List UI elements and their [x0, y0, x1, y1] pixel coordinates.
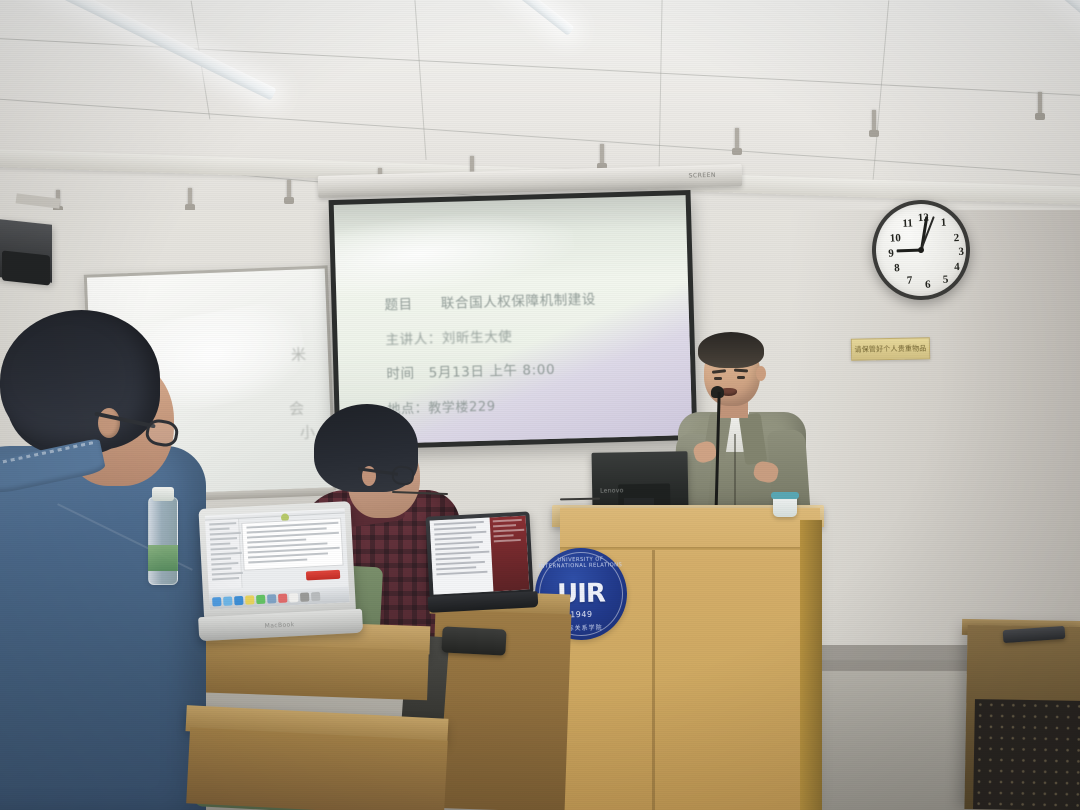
laptop-front-screen[interactable] — [205, 508, 350, 609]
desk-right-mesh-panel — [973, 699, 1080, 810]
cup-lid — [771, 492, 799, 499]
laptop-second-lid — [425, 511, 533, 598]
clock-numeral: 1 — [936, 217, 951, 229]
light-hanger — [600, 144, 604, 165]
water-bottle-label — [148, 545, 178, 571]
notes-icon[interactable] — [245, 595, 254, 604]
calendar-icon[interactable] — [289, 592, 298, 601]
classroom-photo: 12 1 2 3 4 5 6 7 8 9 10 11 请保管好个人贵重物品 米 … — [0, 0, 1080, 810]
screen-brand-label: SCREEN — [689, 172, 716, 180]
student-front-hair — [0, 310, 160, 450]
laptop-front-lid — [198, 501, 356, 619]
clock-center-pin — [918, 247, 924, 253]
paper-cup — [773, 495, 797, 517]
trash-icon[interactable] — [311, 591, 320, 600]
folder-icon[interactable] — [267, 594, 276, 603]
warning-sign-text: 请保管好个人贵重物品 — [854, 343, 926, 354]
chat-icon[interactable] — [256, 594, 265, 603]
monitor-brand-label: Lenovo — [600, 487, 624, 494]
laptop-document-window[interactable] — [241, 518, 343, 571]
screen-glare — [334, 204, 578, 301]
laptop-second-screen[interactable] — [430, 516, 530, 595]
laptop-front[interactable]: MacBook — [192, 501, 363, 649]
logo-arc-top-text: UNIVERSITY OF INTERNATIONAL RELATIONS — [534, 556, 626, 570]
mail-icon[interactable] — [234, 595, 243, 604]
slide-line-speaker: 主讲人：刘昕生大使 — [385, 326, 679, 348]
laptop-submit-button[interactable] — [306, 570, 340, 581]
podium-seam — [560, 547, 820, 550]
music-icon[interactable] — [278, 593, 287, 602]
speaker-eye — [737, 376, 745, 379]
laptop-second[interactable] — [425, 511, 538, 617]
clock-numeral: 11 — [900, 218, 915, 230]
clock-numeral: 3 — [954, 247, 969, 259]
clock-numeral: 10 — [888, 233, 903, 245]
speaker-hair — [698, 332, 764, 368]
laptop-dock[interactable] — [209, 586, 350, 609]
clock-numeral: 7 — [902, 275, 917, 287]
finder-icon[interactable] — [212, 597, 221, 606]
light-hanger — [287, 180, 291, 199]
light-hanger — [735, 128, 739, 150]
speaker-ear — [756, 366, 766, 381]
slide-line-title: 题目 联合国人权保障机制建设 — [384, 291, 678, 313]
laptop-second-document-pane — [430, 518, 493, 595]
whiteboard-marking: 米 — [291, 343, 307, 365]
clock-numeral: 4 — [950, 262, 965, 274]
speaker-eye — [714, 377, 722, 380]
wall-speaker-grill — [2, 250, 50, 285]
clock-numeral: 5 — [938, 274, 953, 286]
clock-numeral: 2 — [949, 233, 964, 245]
bag-on-desk — [441, 626, 506, 655]
browser-icon[interactable] — [223, 596, 232, 605]
laptop-second-side-panel — [489, 516, 529, 592]
podium-side-panel — [800, 520, 822, 810]
settings-icon[interactable] — [300, 592, 309, 601]
slide-line-time: 时间 5月13日 上午 8:00 — [386, 360, 680, 382]
water-bottle-cap — [152, 487, 174, 501]
valuables-warning-sign: 请保管好个人贵重物品 — [851, 337, 930, 360]
desk-lower-front — [186, 727, 448, 810]
podium-panel-divider — [652, 550, 655, 810]
clock-numeral: 6 — [921, 279, 936, 291]
light-hanger — [1038, 92, 1042, 115]
light-hanger — [872, 110, 876, 132]
water-bottle — [148, 497, 178, 585]
laptop-sidebar[interactable] — [205, 519, 243, 590]
clock-numeral: 8 — [890, 263, 905, 275]
light-hanger — [188, 188, 192, 206]
